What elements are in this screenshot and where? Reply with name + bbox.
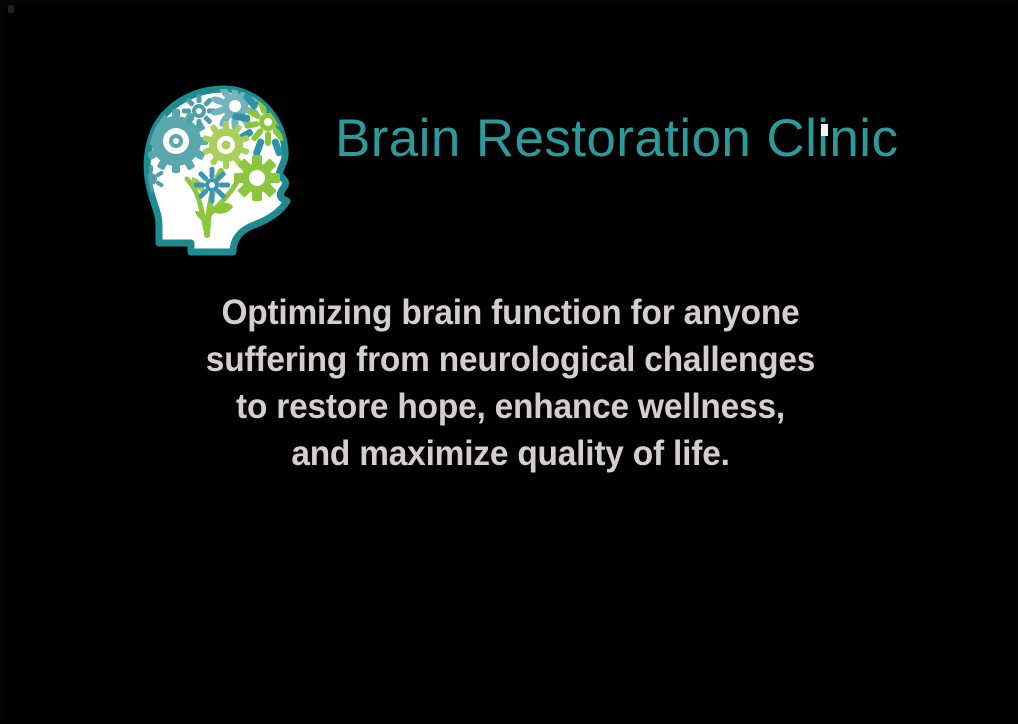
brand-header: Brain Restoration Clinic <box>129 75 889 265</box>
text-caret-artifact <box>821 124 828 136</box>
tagline-line-3: to restore hope, enhance wellness, <box>30 383 992 430</box>
tagline-block: Optimizing brain function for anyone suf… <box>30 289 992 477</box>
head-profile-with-flowers-icon <box>129 75 315 261</box>
corner-artifact <box>8 5 14 13</box>
tagline-line-1: Optimizing brain function for anyone <box>30 289 992 336</box>
tagline-line-2: suffering from neurological challenges <box>30 336 992 383</box>
presentation-slide: Brain Restoration Clinic Optimizing brai… <box>0 0 1018 724</box>
brand-wordmark: Brain Restoration Clinic <box>335 111 898 167</box>
tagline-line-4: and maximize quality of life. <box>30 430 992 477</box>
